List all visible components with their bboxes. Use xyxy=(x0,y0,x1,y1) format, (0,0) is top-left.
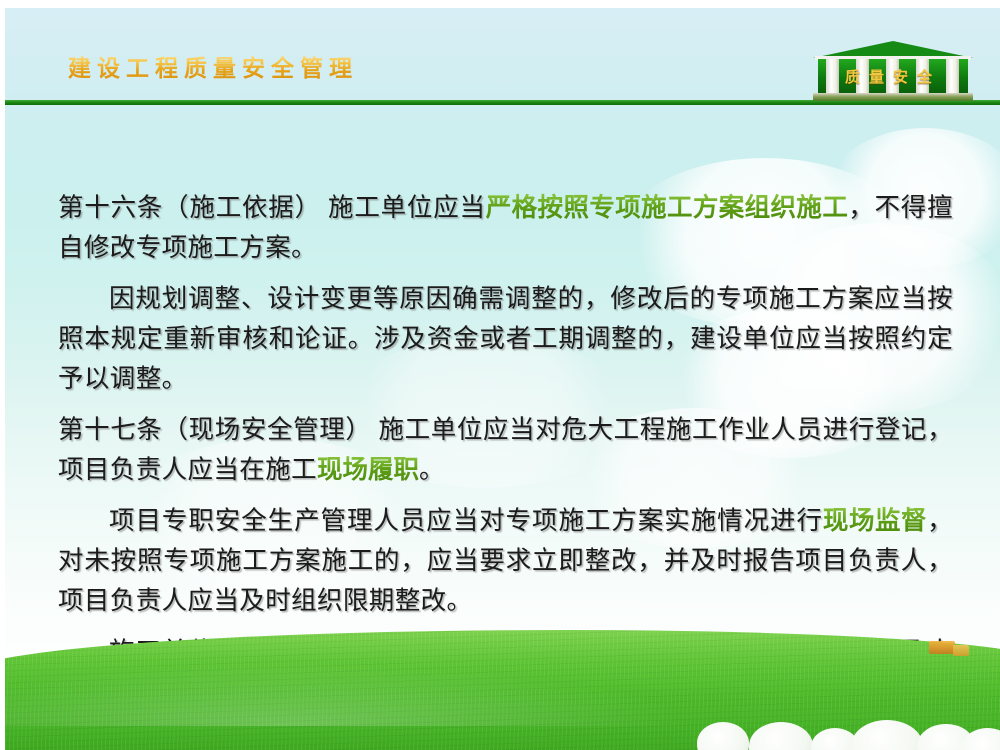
paragraph-article-17: 第十七条（现场安全管理） 施工单位应当对危大工程施工作业人员进行登记，项目负责人… xyxy=(58,410,953,490)
distant-house-icon xyxy=(929,641,955,654)
body-text-run: 第十六条（施工依据） 施工单位应当 xyxy=(58,193,486,222)
slide-header: 建设工程质量安全管理 建设工程质量安全管理 质量安全 xyxy=(5,8,1000,104)
grass-ridge-highlight xyxy=(5,656,745,726)
paragraph-article-16-p2: 因规划调整、设计变更等原因确需调整的，修改后的专项施工方案应当按照本规定重新审核… xyxy=(58,279,953,399)
page-title: 建设工程质量安全管理 xyxy=(68,49,358,83)
highlighted-text: 现场监督 xyxy=(823,506,927,535)
paragraph-article-16: 第十六条（施工依据） 施工单位应当严格按照专项施工方案组织施工，不得擅自修改专项… xyxy=(58,188,953,268)
classical-building-logo-icon: 质量安全 xyxy=(813,41,973,103)
grass-field-decoration xyxy=(5,630,1000,750)
logo-label: 质量安全 xyxy=(813,59,973,93)
body-text-run: 第十七条（现场安全管理） 施工单位应当对危大工程施工作业人员进行登记，项目负责人… xyxy=(58,415,953,484)
slide-canvas: 建设工程质量安全管理 建设工程质量安全管理 质量安全 第十六条（施工依据） 施工… xyxy=(5,8,1000,750)
body-text-run: 项目专职安全生产管理人员应当对专项施工方案实施情况进行 xyxy=(109,506,823,535)
logo-base xyxy=(813,93,973,101)
body-text-run: 。 xyxy=(419,455,445,484)
distant-house-icon xyxy=(953,645,969,656)
highlighted-text: 现场履职 xyxy=(317,455,419,484)
highlighted-text: 严格按照专项施工方案组织施工 xyxy=(486,193,848,222)
paragraph-article-17-p2: 项目专职安全生产管理人员应当对专项施工方案实施情况进行现场监督，对未按照专项施工… xyxy=(58,501,953,621)
body-text-run: 因规划调整、设计变更等原因确需调整的，修改后的专项施工方案应当按照本规定重新审核… xyxy=(58,284,953,393)
slide: 建设工程质量安全管理 建设工程质量安全管理 质量安全 第十六条（施工依据） 施工… xyxy=(0,0,1000,750)
